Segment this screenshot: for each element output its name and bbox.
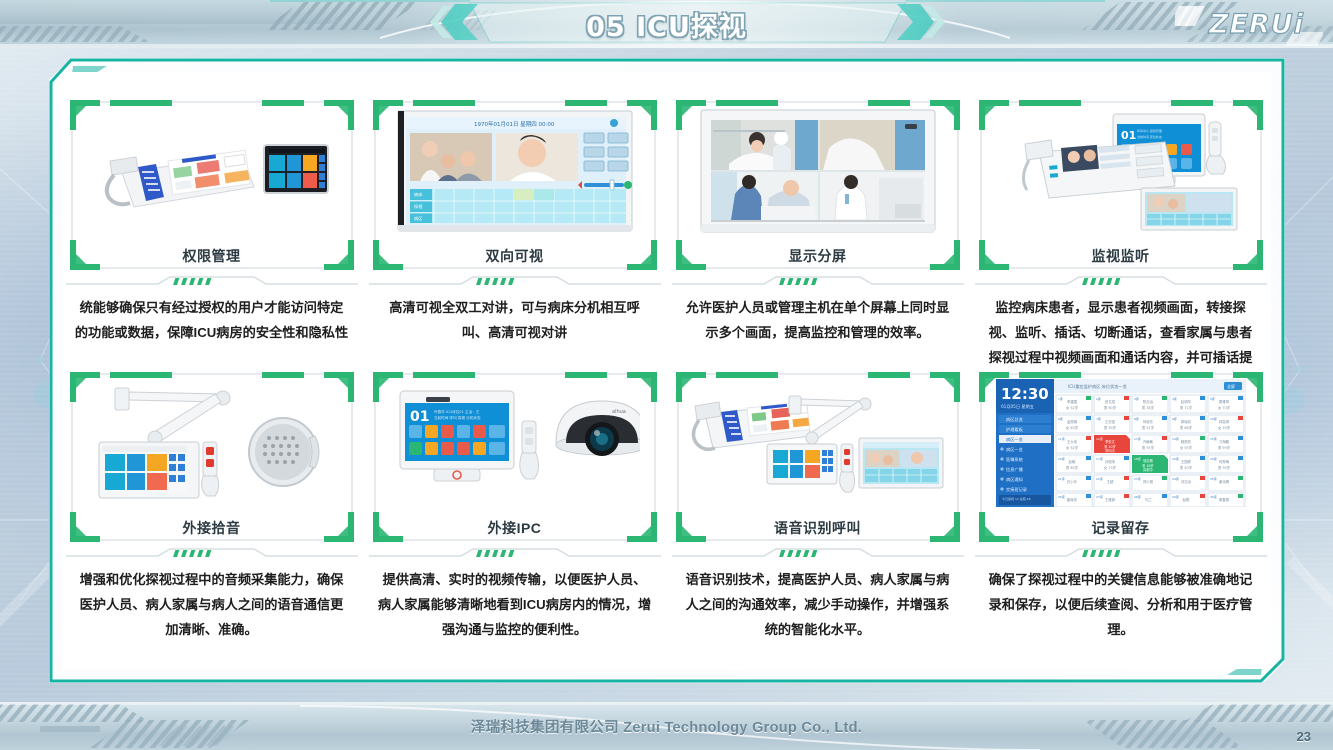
svg-text:28床: 28床 <box>1134 494 1141 499</box>
card-3-description: 允许医护人员或管理主机在单个屏幕上同时显示多个画面，提高监控和管理的效率。 <box>680 295 956 345</box>
svg-text:赵刚: 赵刚 <box>1182 497 1189 502</box>
slide-title: 05 ICU探视 <box>586 5 747 44</box>
card-8-image: 12:30 01月05日 星期五 病区总览 护理看板 病区一览 病区一览 医嘱系… <box>991 380 1251 506</box>
svg-text:11床: 11床 <box>1058 436 1065 441</box>
svg-text:alhua: alhua <box>612 409 626 415</box>
svg-text:许春华 ICU床位01 主治：王: 许春华 ICU床位01 主治：王 <box>434 409 480 414</box>
card-5-divider <box>66 548 358 560</box>
svg-text:23床: 23床 <box>1134 476 1141 481</box>
svg-text:王大伟: 王大伟 <box>1066 439 1077 444</box>
svg-text:郑小丽: 郑小丽 <box>1142 479 1153 484</box>
card-3-image <box>688 108 948 234</box>
card-1-divider <box>66 276 358 288</box>
svg-text:1床: 1床 <box>1058 396 1063 401</box>
svg-text:崔晓凤: 崔晓凤 <box>1066 497 1077 502</box>
footer-band: 泽瑞科技集团有限公司 Zerui Technology Group Co., L… <box>0 702 1333 750</box>
card-6-label: 外接IPC <box>369 518 661 538</box>
svg-text:徐志刚: 徐志刚 <box>1143 458 1153 463</box>
svg-text:病区总览: 病区总览 <box>1006 416 1023 423</box>
card-1-description: 统能够确保只有经过授权的用户才能访问特定的功能或数据，保障ICU病房的安全性和隐… <box>74 295 350 345</box>
svg-text:男 60岁: 男 60岁 <box>1103 405 1115 410</box>
svg-text:ICU重症监护病区 床位状态一览: ICU重症监护病区 床位状态一览 <box>1068 383 1127 390</box>
svg-text:王雅静: 王雅静 <box>1104 497 1115 502</box>
svg-text:刁海鹏: 刁海鹏 <box>1218 439 1229 444</box>
svg-text:马兰: 马兰 <box>1144 497 1151 502</box>
card-4-label: 监视监听 <box>975 246 1267 266</box>
bed-status-dashboard-illustration: 12:30 01月05日 星期五 病区总览 护理看板 病区一览 病区一览 医嘱系… <box>996 379 1246 507</box>
card-4-bed-number: 01 <box>1121 129 1136 142</box>
card-8-label: 记录留存 <box>975 518 1267 538</box>
feature-card-4[interactable]: 01 呼叫中心 探视管理当前时间 床位状态 <box>969 96 1272 360</box>
svg-text:白小乐: 白小乐 <box>1066 479 1077 484</box>
svg-text:病床: 病床 <box>414 191 423 198</box>
card-7-divider <box>672 548 964 560</box>
card-7-description: 语音识别技术，提高医护人员、病人家属与病人之间的沟通效率，减少手动操作，并增强系… <box>680 567 956 642</box>
svg-text:病区一览: 病区一览 <box>1006 436 1023 443</box>
svg-text:19床: 19床 <box>1172 456 1179 461</box>
svg-text:周雅琴: 周雅琴 <box>1218 399 1229 404</box>
svg-text:ZERUi: ZERUi <box>1208 9 1304 40</box>
card-4-frame: 01 呼叫中心 探视管理当前时间 床位状态 <box>975 96 1267 274</box>
svg-text:男 95岁: 男 95岁 <box>1217 465 1229 470</box>
svg-text:男 39岁: 男 39岁 <box>1103 425 1115 430</box>
feature-card-3[interactable]: 显示分屏 允许医护人员或管理主机在单个屏幕上同时显示多个画面，提高监控和管理的效… <box>666 96 969 360</box>
svg-text:女 52岁: 女 52岁 <box>1065 405 1077 410</box>
svg-text:护理看板: 护理看板 <box>1006 426 1024 433</box>
svg-text:15床: 15床 <box>1210 436 1217 441</box>
card-2-frame: 1970年01月01日 星期四 00:00 <box>369 96 661 274</box>
svg-text:今日探视 12 在院 48: 今日探视 12 在院 48 <box>1002 496 1031 501</box>
card-3-label: 显示分屏 <box>672 246 964 266</box>
svg-text:16床: 16床 <box>1058 456 1065 461</box>
svg-text:14床: 14床 <box>1172 436 1179 441</box>
svg-text:董春丽: 董春丽 <box>1218 497 1229 502</box>
svg-text:男 55岁: 男 55岁 <box>1141 445 1153 450</box>
page-number: 23 <box>1297 729 1311 744</box>
svg-text:李安文: 李安文 <box>1105 439 1115 444</box>
arm-tablet-and-microphone-illustration <box>87 380 337 506</box>
card-8-frame: 12:30 01月05日 星期五 病区总览 护理看板 病区一览 病区一览 医嘱系… <box>975 368 1267 546</box>
svg-text:赵明华: 赵明华 <box>1180 399 1191 404</box>
svg-text:27床: 27床 <box>1096 494 1103 499</box>
svg-text:王志强: 王志强 <box>1104 419 1115 424</box>
svg-text:男 66岁: 男 66岁 <box>1179 425 1191 430</box>
svg-text:4床: 4床 <box>1172 396 1177 401</box>
card-6-bed-number: 01 <box>410 409 429 425</box>
card-2-image: 1970年01月01日 星期四 00:00 <box>385 108 645 234</box>
svg-text:男 71岁: 男 71岁 <box>1179 405 1191 410</box>
card-6-frame: 01 许春华 ICU床位01 主治：王 当前时间 呼叫 探视 分机状态 <box>369 368 661 546</box>
feature-card-2[interactable]: 1970年01月01日 星期四 00:00 <box>363 96 666 360</box>
card-5-image <box>82 380 342 506</box>
svg-text:17床: 17床 <box>1096 456 1103 461</box>
feature-card-6[interactable]: 01 许春华 ICU床位01 主治：王 当前时间 呼叫 探视 分机状态 <box>363 368 666 632</box>
card-5-frame: 外接拾音 <box>66 368 358 546</box>
svg-text:2床: 2床 <box>1096 396 1101 401</box>
card-8-description: 确保了探视过程中的关键信息能够被准确地记录和保存，以便后续查阅、分析和用于医疗管… <box>983 567 1259 642</box>
svg-text:10床: 10床 <box>1210 416 1217 421</box>
svg-text:24床: 24床 <box>1172 476 1179 481</box>
svg-text:病区通知: 病区通知 <box>1006 476 1023 483</box>
svg-text:男 50岁: 男 50岁 <box>1179 465 1191 470</box>
card-6-divider <box>369 548 661 560</box>
feature-card-5[interactable]: 外接拾音 增强和优化探视过程中的音频采集能力，确保医护人员、病人家属与病人之间的… <box>60 368 363 632</box>
svg-text:12床: 12床 <box>1096 436 1103 441</box>
slide-title-container: 05 ICU探视 <box>0 0 1333 48</box>
svg-text:信息广播: 信息广播 <box>1006 466 1024 473</box>
svg-text:孟丽娟: 孟丽娟 <box>1066 419 1077 424</box>
feature-card-8[interactable]: 12:30 01月05日 星期五 病区总览 护理看板 病区一览 病区一览 医嘱系… <box>969 368 1272 632</box>
feature-card-7[interactable]: 语音识别呼叫 语音识别技术，提高医护人员、病人家属与病人之间的沟通效率，减少手动… <box>666 368 969 632</box>
svg-text:张文斌: 张文斌 <box>1104 399 1115 404</box>
card-4-image: 01 呼叫中心 探视管理当前时间 床位状态 <box>991 108 1251 234</box>
card-7-label: 语音识别呼叫 <box>672 518 964 538</box>
svg-text:25床: 25床 <box>1210 476 1217 481</box>
svg-text:陈志远: 陈志远 <box>1142 399 1153 404</box>
svg-text:女 52岁: 女 52岁 <box>1065 445 1077 450</box>
card-3-divider <box>672 276 964 288</box>
svg-text:医嘱系统: 医嘱系统 <box>1006 456 1023 463</box>
svg-text:当前时间 床位状态: 当前时间 床位状态 <box>1137 134 1162 139</box>
card-1-image <box>82 108 342 234</box>
svg-text:6床: 6床 <box>1058 416 1063 421</box>
svg-text:许敏敏: 许敏敏 <box>1142 439 1153 444</box>
svg-text:当前时间 呼叫 探视 分机状态: 当前时间 呼叫 探视 分机状态 <box>434 415 481 420</box>
card-7-frame: 语音识别呼叫 <box>672 368 964 546</box>
svg-text:王超: 王超 <box>1106 479 1113 484</box>
svg-text:29床: 29床 <box>1172 494 1179 499</box>
svg-text:女 73岁: 女 73岁 <box>1103 465 1115 470</box>
svg-text:30床: 30床 <box>1210 494 1217 499</box>
svg-text:呼叫中心 探视管理: 呼叫中心 探视管理 <box>1137 128 1162 133</box>
svg-text:男 51岁: 男 51岁 <box>1141 425 1153 430</box>
card-2-description: 高清可视全双工对讲，可与病床分机相互呼叫、高清可视对讲 <box>377 295 653 345</box>
svg-text:程丽芳: 程丽芳 <box>1180 439 1191 444</box>
svg-text:7床: 7床 <box>1096 416 1101 421</box>
svg-text:病区: 病区 <box>414 215 422 222</box>
feature-card-1[interactable]: 权限管理 统能够确保只有经过授权的用户才能访问特定的功能或数据，保障ICU病房的… <box>60 96 363 360</box>
svg-text:何秀梅: 何秀梅 <box>1218 459 1229 464</box>
svg-text:26床: 26床 <box>1058 494 1065 499</box>
svg-text:呼叫中: 呼叫中 <box>1105 448 1115 453</box>
card-1-frame: 权限管理 <box>66 96 358 274</box>
svg-text:病区一览: 病区一览 <box>1006 446 1023 453</box>
svg-text:男 59岁: 男 59岁 <box>1217 445 1229 450</box>
card-6-description: 提供高清、实时的视频传输，以便医护人员、病人家属能够清晰地看到ICU病房内的情况… <box>377 567 653 642</box>
svg-text:刘志远: 刘志远 <box>1180 479 1191 484</box>
svg-text:13床: 13床 <box>1134 436 1141 441</box>
svg-text:孙丽萍: 孙丽萍 <box>1104 459 1115 464</box>
svg-text:林嘉琪: 林嘉琪 <box>1218 419 1229 424</box>
svg-text:8床: 8床 <box>1134 416 1139 421</box>
dashboard-clock: 12:30 <box>1001 385 1049 403</box>
svg-text:9床: 9床 <box>1172 416 1177 421</box>
footer-company: 泽瑞科技集团有限公司 Zerui Technology Group Co., L… <box>0 702 1333 750</box>
svg-text:女 70岁: 女 70岁 <box>1217 405 1229 410</box>
svg-text:5床: 5床 <box>1210 396 1215 401</box>
svg-text:女 55岁: 女 55岁 <box>1179 445 1191 450</box>
svg-text:21床: 21床 <box>1058 476 1065 481</box>
card-1-label: 权限管理 <box>66 246 358 266</box>
card-4-divider <box>975 276 1267 288</box>
feature-card-grid: 权限管理 统能够确保只有经过授权的用户才能访问特定的功能或数据，保障ICU病房的… <box>60 96 1274 656</box>
svg-text:男 65岁: 男 65岁 <box>1065 465 1077 470</box>
svg-text:赵敏: 赵敏 <box>1068 459 1075 464</box>
svg-text:谢泳腾: 谢泳腾 <box>1218 479 1229 484</box>
svg-text:女 63岁: 女 63岁 <box>1065 425 1077 430</box>
card-2-label: 双向可视 <box>369 246 661 266</box>
svg-text:王国栋: 王国栋 <box>1180 459 1191 464</box>
card-5-description: 增强和优化探视过程中的音频采集能力，确保医护人员、病人家属与病人之间的语音通信更… <box>74 567 350 642</box>
card-5-label: 外接拾音 <box>66 518 358 538</box>
svg-text:李建国: 李建国 <box>1066 399 1077 404</box>
svg-text:男 38岁: 男 38岁 <box>1141 405 1153 410</box>
desk-phone-and-tablet-illustration <box>92 115 332 227</box>
svg-text:探视中: 探视中 <box>1143 467 1153 472</box>
svg-text:22床: 22床 <box>1096 476 1103 481</box>
header-band: 05 ICU探视 ZERUi <box>0 0 1333 48</box>
svg-text:探视: 探视 <box>414 203 423 210</box>
card-3-frame: 显示分屏 <box>672 96 964 274</box>
two-way-video-intercom-illustration: 1970年01月01日 星期四 00:00 <box>396 109 634 233</box>
svg-text:女 29岁: 女 29岁 <box>1217 425 1229 430</box>
svg-text:3床: 3床 <box>1134 396 1139 401</box>
dashboard-fullscreen-badge: 全屏 <box>1227 383 1235 389</box>
svg-text:交接班记录: 交接班记录 <box>1006 486 1027 493</box>
quad-split-monitor-illustration <box>699 108 937 234</box>
voice-call-devices-illustration <box>691 382 945 504</box>
svg-text:郭晓欢: 郭晓欢 <box>1180 419 1191 424</box>
nurse-station-host-illustration: 01 呼叫中心 探视管理当前时间 床位状态 <box>995 108 1247 234</box>
zerui-logo: ZERUi <box>1175 2 1323 46</box>
svg-text:1970年01月01日 星期四 00:00: 1970年01月01日 星期四 00:00 <box>474 120 555 128</box>
svg-text:18床: 18床 <box>1134 456 1141 461</box>
card-7-image <box>688 380 948 506</box>
card-2-divider <box>369 276 661 288</box>
tablet-and-dome-camera-illustration: 01 许春华 ICU床位01 主治：王 当前时间 呼叫 探视 分机状态 <box>390 381 640 505</box>
svg-text:何晓东: 何晓东 <box>1142 419 1153 424</box>
svg-text:20床: 20床 <box>1210 456 1217 461</box>
card-6-image: 01 许春华 ICU床位01 主治：王 当前时间 呼叫 探视 分机状态 <box>385 380 645 506</box>
card-8-divider <box>975 548 1267 560</box>
